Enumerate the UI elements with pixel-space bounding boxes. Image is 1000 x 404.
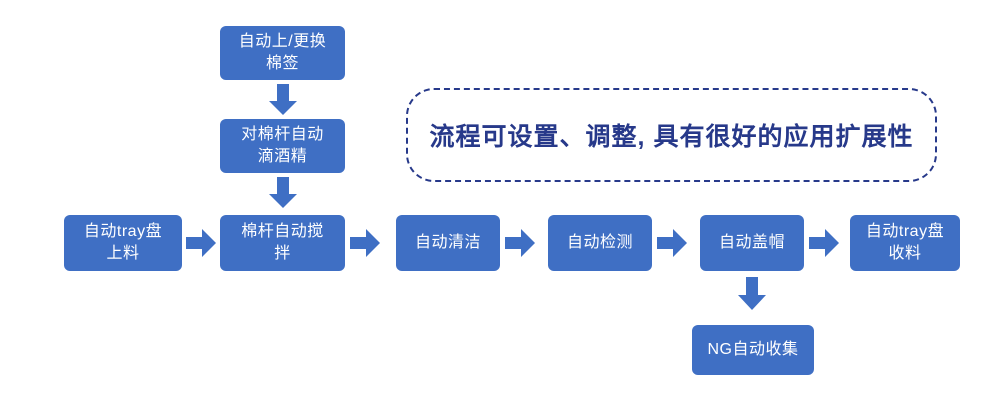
arrow-tray-feed-to-stir (186, 228, 218, 258)
node-auto-inspect[interactable]: 自动检测 (548, 215, 652, 271)
callout-text: 流程可设置、调整, 具有很好的应用扩展性 (430, 117, 914, 153)
node-ng-auto-collect[interactable]: NG自动收集 (692, 325, 814, 375)
flowchart-canvas: 自动上/更换 棉签 对棉杆自动 滴酒精 自动tray盘 上料 棉杆自动搅 拌 自… (0, 0, 1000, 404)
node-auto-swab-load[interactable]: 自动上/更换 棉签 (220, 26, 345, 80)
node-auto-clean[interactable]: 自动清洁 (396, 215, 500, 271)
arrow-cap-to-ng (735, 277, 769, 311)
arrow-clean-to-inspect (505, 228, 537, 258)
callout-box: 流程可设置、调整, 具有很好的应用扩展性 (406, 88, 937, 182)
arrow-cap-to-tray-unload (809, 228, 841, 258)
node-auto-stir[interactable]: 棉杆自动搅 拌 (220, 215, 345, 271)
node-auto-drip-alcohol[interactable]: 对棉杆自动 滴酒精 (220, 119, 345, 173)
node-auto-tray-feed[interactable]: 自动tray盘 上料 (64, 215, 182, 271)
node-auto-cap[interactable]: 自动盖帽 (700, 215, 804, 271)
node-auto-tray-unload[interactable]: 自动tray盘 收料 (850, 215, 960, 271)
arrow-drip-to-stir (266, 177, 300, 209)
arrow-swab-to-drip (266, 84, 300, 116)
arrow-stir-to-clean (350, 228, 382, 258)
arrow-inspect-to-cap (657, 228, 689, 258)
